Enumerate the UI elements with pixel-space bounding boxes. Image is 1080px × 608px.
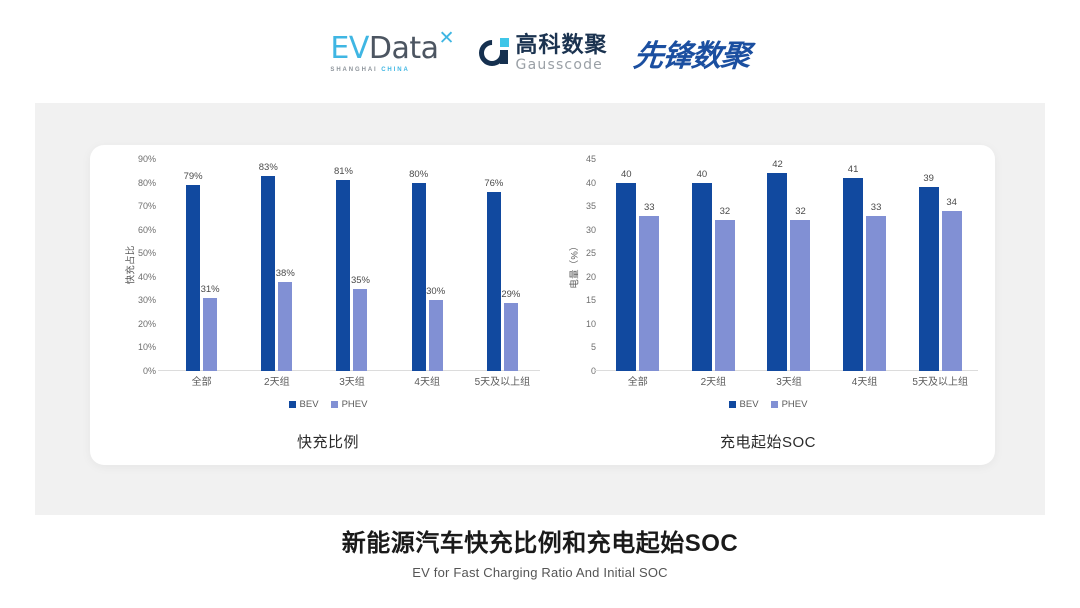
bar-value-label: 33 bbox=[871, 202, 882, 213]
gausscode-square-icon bbox=[500, 38, 509, 47]
bar-group: 79%31% bbox=[169, 159, 235, 371]
bar-value-label: 40 bbox=[697, 169, 708, 180]
x-tick-label: 4天组 bbox=[390, 373, 465, 388]
gausscode-en-text: Gausscode bbox=[516, 58, 608, 72]
logo-gausscode: 高科数聚 Gausscode bbox=[479, 34, 608, 72]
legend-label-bev: BEV bbox=[300, 399, 319, 410]
bar-value-label: 32 bbox=[795, 206, 806, 217]
y-axis-ticks-right: 051015202530354045 bbox=[562, 159, 596, 371]
bar-phev: 29% bbox=[504, 303, 518, 371]
figure-title-cn: 新能源汽车快充比例和充电起始SOC bbox=[0, 530, 1080, 559]
y-tick-label: 10 bbox=[586, 319, 596, 329]
bar-group: 4032 bbox=[678, 159, 748, 371]
x-tick-label: 5天及以上组 bbox=[902, 373, 978, 388]
bar-bev: 81% bbox=[336, 180, 350, 371]
y-tick-label: 35 bbox=[586, 201, 596, 211]
x-tick-label: 2天组 bbox=[239, 373, 314, 388]
legend-item-phev-left: PHEV bbox=[331, 399, 368, 410]
bar-value-label: 34 bbox=[946, 197, 957, 208]
bar-value-label: 42 bbox=[772, 159, 783, 170]
bar-value-label: 29% bbox=[501, 289, 520, 300]
evdata-data-text: Data bbox=[369, 31, 439, 66]
bar-bev: 80% bbox=[412, 183, 426, 371]
legend-swatch-phev-icon bbox=[771, 401, 778, 408]
chart-caption-right: 充电起始SOC bbox=[548, 431, 988, 452]
x-axis-labels-right: 全部2天组3天组4天组5天及以上组 bbox=[600, 373, 978, 388]
y-tick-label: 80% bbox=[138, 178, 156, 188]
legend-right: BEV PHEV bbox=[548, 399, 988, 410]
x-tick-label: 2天组 bbox=[676, 373, 752, 388]
y-axis-ticks-left: 0%10%20%30%40%50%60%70%80%90% bbox=[122, 159, 156, 371]
figure-titles: 新能源汽车快充比例和充电起始SOC EV for Fast Charging R… bbox=[0, 530, 1080, 580]
evdata-ev-text: EV bbox=[330, 31, 368, 66]
y-tick-label: 90% bbox=[138, 154, 156, 164]
chart-fast-charging-ratio: 快充占比 0%10%20%30%40%50%60%70%80%90% 79%31… bbox=[108, 159, 548, 459]
bar-bev: 40 bbox=[692, 183, 712, 371]
bars-region-right: 40334032423241333934 bbox=[600, 159, 978, 371]
logo-evdata: EVData ✕ SHANGHAI CHINA bbox=[330, 34, 452, 73]
legend-item-bev-left: BEV bbox=[289, 399, 319, 410]
gausscode-mark-icon bbox=[479, 38, 509, 68]
bar-value-label: 38% bbox=[276, 268, 295, 279]
chart-caption-left: 快充比例 bbox=[108, 431, 548, 452]
y-tick-label: 40% bbox=[138, 272, 156, 282]
y-tick-label: 10% bbox=[138, 342, 156, 352]
bar-group: 80%30% bbox=[394, 159, 460, 371]
x-tick-label: 全部 bbox=[600, 373, 676, 388]
bar-group: 3934 bbox=[905, 159, 975, 371]
plot-area-right: 电量（%） 051015202530354045 403340324232413… bbox=[548, 159, 988, 371]
legend-label-bev: BEV bbox=[740, 399, 759, 410]
y-tick-label: 15 bbox=[586, 295, 596, 305]
evdata-tagline-china: CHINA bbox=[381, 67, 410, 73]
bar-phev: 33 bbox=[639, 216, 659, 371]
y-tick-label: 25 bbox=[586, 248, 596, 258]
bar-group: 4133 bbox=[830, 159, 900, 371]
bar-phev: 33 bbox=[866, 216, 886, 371]
y-tick-label: 50% bbox=[138, 248, 156, 258]
y-tick-label: 70% bbox=[138, 201, 156, 211]
legend-item-phev-right: PHEV bbox=[771, 399, 808, 410]
x-tick-label: 3天组 bbox=[751, 373, 827, 388]
bar-value-label: 30% bbox=[426, 286, 445, 297]
x-tick-label: 3天组 bbox=[314, 373, 389, 388]
bar-value-label: 35% bbox=[351, 275, 370, 286]
bar-phev: 38% bbox=[278, 282, 292, 372]
bar-groups-left: 79%31%83%38%81%35%80%30%76%29% bbox=[164, 159, 540, 371]
legend-swatch-bev-icon bbox=[289, 401, 296, 408]
bar-bev: 39 bbox=[919, 187, 939, 371]
bars-region-left: 79%31%83%38%81%35%80%30%76%29% bbox=[164, 159, 540, 371]
y-tick-label: 45 bbox=[586, 154, 596, 164]
bar-value-label: 40 bbox=[621, 169, 632, 180]
gausscode-bar-icon bbox=[500, 50, 508, 64]
bar-phev: 34 bbox=[942, 211, 962, 371]
bar-groups-right: 40334032423241333934 bbox=[600, 159, 978, 371]
y-tick-label: 5 bbox=[591, 342, 596, 352]
bar-bev: 40 bbox=[616, 183, 636, 371]
legend-label-phev: PHEV bbox=[342, 399, 368, 410]
chart-initial-soc: 电量（%） 051015202530354045 403340324232413… bbox=[548, 159, 988, 459]
y-tick-label: 30% bbox=[138, 295, 156, 305]
legend-swatch-phev-icon bbox=[331, 401, 338, 408]
bar-bev: 42 bbox=[767, 173, 787, 371]
y-tick-label: 30 bbox=[586, 225, 596, 235]
bar-value-label: 81% bbox=[334, 166, 353, 177]
bar-value-label: 33 bbox=[644, 202, 655, 213]
bar-bev: 41 bbox=[843, 178, 863, 371]
logo-xianfeng: 先锋数聚 bbox=[631, 31, 752, 75]
bar-phev: 30% bbox=[429, 300, 443, 371]
bar-group: 4033 bbox=[603, 159, 673, 371]
y-tick-label: 40 bbox=[586, 178, 596, 188]
bar-bev: 76% bbox=[487, 192, 501, 371]
bar-value-label: 79% bbox=[184, 171, 203, 182]
figure-title-en: EV for Fast Charging Ratio And Initial S… bbox=[0, 565, 1080, 580]
y-tick-label: 20% bbox=[138, 319, 156, 329]
x-tick-label: 5天及以上组 bbox=[465, 373, 540, 388]
bar-value-label: 83% bbox=[259, 162, 278, 173]
bar-value-label: 32 bbox=[720, 206, 731, 217]
bar-phev: 31% bbox=[203, 298, 217, 371]
y-tick-label: 20 bbox=[586, 272, 596, 282]
bar-group: 83%38% bbox=[244, 159, 310, 371]
gausscode-cn-text: 高科数聚 bbox=[516, 34, 608, 56]
x-tick-label: 全部 bbox=[164, 373, 239, 388]
evdata-tagline-shanghai: SHANGHAI bbox=[330, 67, 377, 73]
bar-phev: 32 bbox=[715, 220, 735, 371]
bar-group: 4232 bbox=[754, 159, 824, 371]
legend-item-bev-right: BEV bbox=[729, 399, 759, 410]
gausscode-wordmark: 高科数聚 Gausscode bbox=[516, 34, 608, 72]
x-axis-labels-left: 全部2天组3天组4天组5天及以上组 bbox=[164, 373, 540, 388]
legend-left: BEV PHEV bbox=[108, 399, 548, 410]
x-tick-label: 4天组 bbox=[827, 373, 903, 388]
y-tick-label: 0 bbox=[591, 366, 596, 376]
brand-logo-bar: EVData ✕ SHANGHAI CHINA 高科数聚 Gausscode 先… bbox=[0, 26, 1080, 80]
bar-value-label: 31% bbox=[201, 284, 220, 295]
charts-card: 快充占比 0%10%20%30%40%50%60%70%80%90% 79%31… bbox=[90, 145, 995, 465]
y-tick-label: 0% bbox=[143, 366, 156, 376]
y-tick-label: 60% bbox=[138, 225, 156, 235]
plot-area-left: 快充占比 0%10%20%30%40%50%60%70%80%90% 79%31… bbox=[108, 159, 548, 371]
bar-group: 81%35% bbox=[319, 159, 385, 371]
bar-value-label: 76% bbox=[484, 178, 503, 189]
legend-label-phev: PHEV bbox=[782, 399, 808, 410]
evdata-tagline: SHANGHAI CHINA bbox=[330, 67, 409, 73]
bar-value-label: 41 bbox=[848, 164, 859, 175]
bar-value-label: 39 bbox=[923, 173, 934, 184]
bar-value-label: 80% bbox=[409, 169, 428, 180]
bar-bev: 79% bbox=[186, 185, 200, 371]
bar-phev: 35% bbox=[353, 289, 367, 371]
bar-bev: 83% bbox=[261, 176, 275, 372]
x-icon: ✕ bbox=[439, 29, 455, 48]
legend-swatch-bev-icon bbox=[729, 401, 736, 408]
evdata-wordmark: EVData bbox=[330, 34, 438, 64]
bar-group: 76%29% bbox=[469, 159, 535, 371]
bar-phev: 32 bbox=[790, 220, 810, 371]
